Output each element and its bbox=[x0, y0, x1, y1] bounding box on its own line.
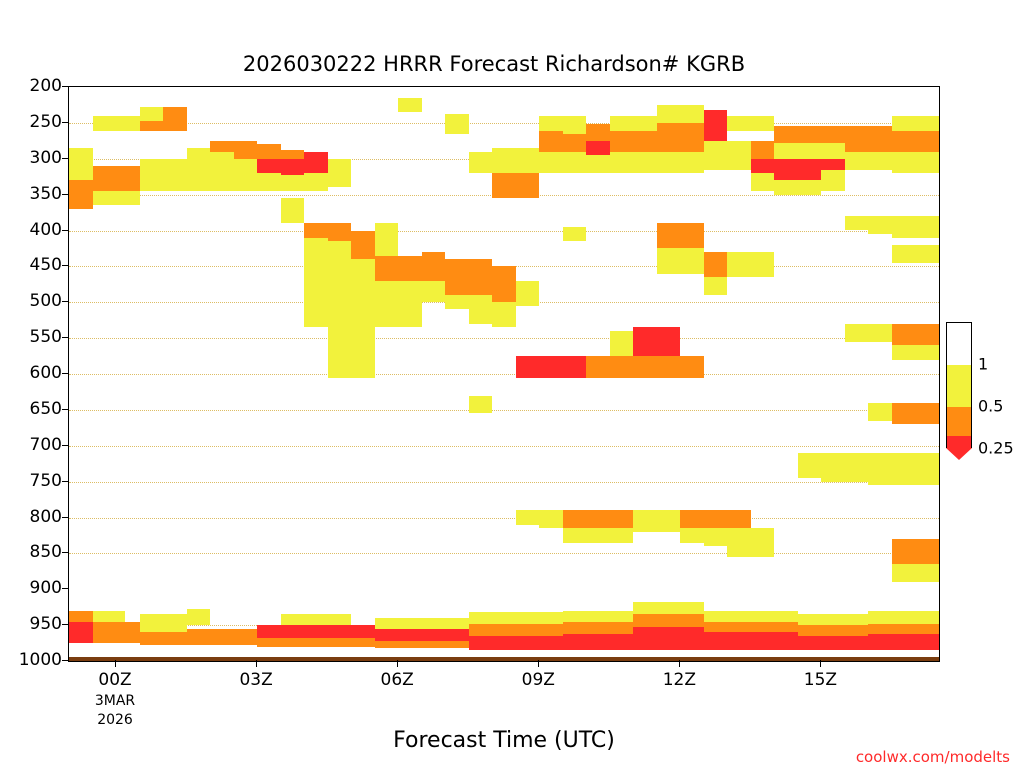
heatmap-cell bbox=[868, 634, 939, 651]
heatmap-cell bbox=[375, 641, 469, 648]
heatmap-cell bbox=[328, 159, 352, 188]
heatmap-cell bbox=[892, 116, 939, 132]
heatmap-cell bbox=[328, 288, 352, 378]
y-axis-tick-mark bbox=[62, 517, 69, 518]
heatmap-cell bbox=[281, 175, 305, 192]
heatmap-cell bbox=[398, 256, 422, 281]
x-axis-tick-label: 12Z bbox=[663, 670, 696, 690]
y-axis-tick-label: 550 bbox=[0, 327, 68, 347]
heatmap-cell bbox=[798, 625, 869, 636]
heatmap-cell bbox=[539, 356, 563, 378]
heatmap-plot-area bbox=[68, 86, 940, 662]
heatmap-cell bbox=[610, 116, 634, 132]
heatmap-cell bbox=[69, 611, 93, 622]
heatmap-cell bbox=[798, 180, 822, 194]
heatmap-cell bbox=[821, 170, 845, 192]
heatmap-cell bbox=[187, 609, 211, 625]
heatmap-cell bbox=[798, 614, 869, 625]
heatmap-cell bbox=[187, 148, 211, 191]
colorbar-tick-label: 1 bbox=[978, 355, 988, 374]
heatmap-cell bbox=[492, 173, 516, 198]
heatmap-cell bbox=[633, 356, 657, 378]
colorbar-segment bbox=[947, 365, 971, 407]
x-axis-tick-label: 09Z bbox=[522, 670, 555, 690]
heatmap-cell bbox=[281, 614, 352, 625]
heatmap-cell bbox=[563, 528, 587, 542]
heatmap-cell bbox=[680, 356, 704, 378]
heatmap-cell bbox=[727, 141, 751, 170]
heatmap-cell bbox=[492, 148, 516, 173]
heatmap-cell bbox=[798, 143, 822, 159]
y-axis-tick-label: 250 bbox=[0, 112, 68, 132]
heatmap-cell bbox=[774, 143, 798, 159]
heatmap-cell bbox=[727, 116, 751, 132]
heatmap-cell bbox=[586, 528, 610, 542]
heatmap-cell bbox=[845, 152, 869, 170]
heatmap-cell bbox=[539, 510, 563, 528]
heatmap-cell bbox=[892, 216, 939, 238]
heatmap-cell bbox=[798, 453, 822, 478]
heatmap-cell bbox=[868, 152, 892, 170]
heatmap-cell bbox=[281, 198, 305, 223]
heatmap-cell bbox=[469, 636, 563, 650]
heatmap-cell bbox=[868, 324, 892, 342]
grid-line bbox=[69, 661, 939, 662]
heatmap-cell bbox=[657, 105, 681, 123]
heatmap-cell bbox=[469, 396, 493, 414]
heatmap-cell bbox=[751, 159, 775, 173]
colorbar-segment-red bbox=[946, 436, 972, 448]
colorbar-top-arrow bbox=[946, 310, 972, 322]
heatmap-cell bbox=[892, 324, 939, 346]
heatmap-cell bbox=[563, 622, 634, 634]
y-axis-tick-label: 300 bbox=[0, 148, 68, 168]
heatmap-cell bbox=[704, 252, 728, 277]
y-axis-tick-mark bbox=[62, 158, 69, 159]
heatmap-cell bbox=[375, 281, 399, 328]
heatmap-cell bbox=[516, 148, 540, 173]
heatmap-cell bbox=[892, 131, 939, 151]
x-axis-tick-label: 00Z bbox=[98, 670, 131, 690]
heatmap-cell bbox=[140, 121, 164, 131]
y-axis-tick-label: 200 bbox=[0, 76, 68, 96]
heatmap-cell bbox=[140, 107, 164, 121]
heatmap-cell bbox=[586, 141, 610, 155]
grid-line bbox=[69, 338, 939, 339]
heatmap-cell bbox=[704, 611, 798, 622]
heatmap-cell bbox=[257, 144, 281, 158]
y-axis-tick-label: 850 bbox=[0, 542, 68, 562]
heatmap-cell bbox=[445, 114, 469, 133]
heatmap-cell bbox=[657, 123, 681, 152]
heatmap-cell bbox=[610, 331, 634, 356]
y-axis-tick-mark bbox=[62, 373, 69, 374]
heatmap-cell bbox=[680, 123, 704, 152]
colorbar-segment bbox=[947, 323, 971, 365]
heatmap-cell bbox=[93, 622, 140, 644]
grid-line bbox=[69, 518, 939, 519]
heatmap-cell bbox=[868, 624, 939, 634]
heatmap-cell bbox=[868, 403, 892, 421]
x-axis-tick-mark bbox=[397, 660, 398, 667]
heatmap-cell bbox=[469, 295, 493, 324]
colorbar-body bbox=[946, 322, 972, 448]
heatmap-cell bbox=[257, 173, 281, 191]
heatmap-cell bbox=[563, 227, 587, 241]
grid-line bbox=[69, 553, 939, 554]
heatmap-cell bbox=[398, 281, 422, 328]
heatmap-cell bbox=[751, 528, 775, 557]
heatmap-cell bbox=[633, 614, 704, 626]
heatmap-cell bbox=[445, 259, 469, 295]
heatmap-cell bbox=[210, 152, 234, 191]
grid-line bbox=[69, 123, 939, 124]
heatmap-cell bbox=[304, 173, 328, 191]
x-axis-tick-mark bbox=[538, 660, 539, 667]
heatmap-cell bbox=[563, 510, 587, 528]
heatmap-cell bbox=[69, 589, 939, 611]
heatmap-cell bbox=[304, 238, 328, 252]
y-axis-tick-mark bbox=[62, 660, 69, 661]
heatmap-cell bbox=[516, 510, 540, 524]
y-axis-tick-label: 400 bbox=[0, 220, 68, 240]
heatmap-cell bbox=[234, 159, 258, 191]
heatmap-cell bbox=[892, 152, 939, 174]
heatmap-cell bbox=[821, 143, 845, 159]
heatmap-cell bbox=[116, 166, 140, 191]
heatmap-cell bbox=[798, 159, 822, 181]
heatmap-cell bbox=[633, 510, 657, 532]
heatmap-cell bbox=[516, 173, 540, 198]
y-axis-tick-mark bbox=[62, 445, 69, 446]
heatmap-cell bbox=[304, 223, 328, 237]
heatmap-cell bbox=[93, 191, 117, 205]
ground-band bbox=[69, 657, 939, 661]
heatmap-cell bbox=[751, 252, 775, 277]
heatmap-cell bbox=[633, 627, 704, 651]
heatmap-cell bbox=[892, 245, 939, 263]
heatmap-cell bbox=[633, 327, 657, 356]
heatmap-cell bbox=[257, 625, 375, 638]
x-axis-tick-mark bbox=[115, 660, 116, 667]
y-axis-tick-label: 650 bbox=[0, 399, 68, 419]
heatmap-cell bbox=[563, 356, 587, 378]
heatmap-cell bbox=[821, 453, 845, 482]
heatmap-cell bbox=[727, 252, 751, 277]
y-axis-tick-label: 1000 bbox=[0, 650, 68, 670]
heatmap-cell bbox=[210, 141, 234, 152]
heatmap-cell bbox=[727, 528, 751, 557]
grid-line bbox=[69, 410, 939, 411]
y-axis-tick-mark bbox=[62, 301, 69, 302]
heatmap-cell bbox=[727, 510, 751, 528]
heatmap-cell bbox=[657, 356, 681, 378]
y-axis-tick-mark bbox=[62, 409, 69, 410]
heatmap-cell bbox=[469, 152, 493, 174]
heatmap-cell bbox=[751, 116, 775, 132]
heatmap-cell bbox=[69, 622, 93, 644]
heatmap-cell bbox=[304, 252, 328, 327]
heatmap-cell bbox=[680, 248, 704, 273]
heatmap-cell bbox=[69, 148, 93, 180]
heatmap-cell bbox=[69, 180, 93, 209]
heatmap-cell bbox=[774, 159, 798, 181]
heatmap-cell bbox=[116, 191, 140, 205]
y-axis-tick-mark bbox=[62, 337, 69, 338]
heatmap-cell bbox=[680, 152, 704, 174]
heatmap-cell bbox=[257, 159, 281, 173]
x-axis-sub-label: 2026 bbox=[97, 712, 133, 729]
heatmap-cell bbox=[563, 152, 587, 174]
heatmap-cell bbox=[328, 223, 352, 241]
heatmap-cell bbox=[610, 510, 634, 528]
heatmap-cell bbox=[892, 453, 939, 485]
heatmap-cell bbox=[774, 126, 798, 143]
heatmap-cell bbox=[680, 105, 704, 123]
heatmap-cell bbox=[892, 345, 939, 359]
chart-title-text: 2026030222 HRRR Forecast Richardson# KGR… bbox=[243, 52, 745, 76]
heatmap-cell bbox=[516, 356, 540, 378]
heatmap-cell bbox=[304, 152, 328, 174]
y-axis-tick-label: 700 bbox=[0, 435, 68, 455]
colorbar-tick-label: 0.5 bbox=[978, 397, 1003, 416]
page-title: 2026030222 HRRR Forecast Richardson# KGR… bbox=[0, 52, 1024, 76]
heatmap-cell bbox=[563, 134, 587, 152]
heatmap-cell bbox=[469, 624, 563, 636]
heatmap-cell bbox=[539, 152, 563, 174]
heatmap-cell bbox=[868, 453, 892, 485]
heatmap-cell bbox=[751, 141, 775, 159]
grid-line bbox=[69, 374, 939, 375]
heatmap-cell bbox=[633, 116, 657, 132]
heatmap-cell bbox=[563, 634, 634, 651]
heatmap-cell bbox=[140, 159, 164, 191]
grid-line bbox=[69, 231, 939, 232]
heatmap-cell bbox=[892, 539, 939, 564]
heatmap-cell bbox=[563, 611, 634, 622]
heatmap-cell bbox=[257, 638, 375, 647]
heatmap-cell bbox=[704, 141, 728, 170]
watermark: coolwx.com/modelts bbox=[856, 748, 1010, 766]
y-axis-tick-mark bbox=[62, 624, 69, 625]
heatmap-cell bbox=[116, 116, 140, 132]
x-axis-tick-mark bbox=[679, 660, 680, 667]
heatmap-cell bbox=[657, 152, 681, 174]
heatmap-cell bbox=[422, 281, 446, 303]
heatmap-cell bbox=[586, 124, 610, 141]
y-axis-tick-mark bbox=[62, 122, 69, 123]
y-axis-tick-label: 750 bbox=[0, 471, 68, 491]
heatmap-cell bbox=[704, 277, 728, 295]
grid-line bbox=[69, 482, 939, 483]
y-axis-tick-mark bbox=[62, 265, 69, 266]
heatmap-cell bbox=[821, 159, 845, 170]
heatmap-cell bbox=[657, 223, 681, 248]
heatmap-cell bbox=[704, 510, 728, 528]
y-axis-tick-mark bbox=[62, 588, 69, 589]
heatmap-cell bbox=[892, 564, 939, 582]
heatmap-cell bbox=[351, 231, 375, 260]
heatmap-cell bbox=[704, 123, 728, 141]
heatmap-cell bbox=[187, 629, 258, 646]
y-axis-tick-label: 350 bbox=[0, 184, 68, 204]
y-axis-tick-label: 450 bbox=[0, 255, 68, 275]
y-axis-tick-label: 600 bbox=[0, 363, 68, 383]
heatmap-cell bbox=[375, 629, 469, 641]
heatmap-cell bbox=[445, 295, 469, 309]
x-axis-tick-mark bbox=[820, 660, 821, 667]
heatmap-cell bbox=[633, 602, 704, 614]
heatmap-cell bbox=[798, 126, 822, 143]
heatmap-cell bbox=[610, 356, 634, 378]
heatmap-cell bbox=[375, 256, 399, 281]
heatmap-cell bbox=[868, 611, 939, 624]
heatmap-cell bbox=[845, 216, 869, 230]
grid-line bbox=[69, 446, 939, 447]
y-axis-tick-mark bbox=[62, 194, 69, 195]
heatmap-cell bbox=[140, 632, 187, 645]
y-axis-tick-mark bbox=[62, 230, 69, 231]
heatmap-cell bbox=[163, 107, 187, 131]
colorbar-bottom-arrow bbox=[946, 448, 972, 460]
heatmap-cell bbox=[704, 528, 728, 546]
heatmap-cell bbox=[93, 166, 117, 191]
heatmap-cell bbox=[469, 259, 493, 295]
heatmap-cell bbox=[680, 223, 704, 248]
chart-page: 2026030222 HRRR Forecast Richardson# KGR… bbox=[0, 0, 1024, 768]
x-axis-tick-label: 15Z bbox=[804, 670, 837, 690]
heatmap-cell bbox=[586, 155, 610, 173]
heatmap-cell bbox=[539, 116, 563, 132]
heatmap-cell bbox=[633, 131, 657, 151]
heatmap-cell bbox=[657, 248, 681, 273]
x-axis-tick-label: 06Z bbox=[381, 670, 414, 690]
y-axis-tick-mark bbox=[62, 86, 69, 87]
heatmap-cell bbox=[610, 528, 634, 542]
heatmap-cell bbox=[586, 510, 610, 528]
heatmap-cell bbox=[563, 116, 587, 134]
heatmap-cell bbox=[704, 110, 728, 123]
colorbar-tick-label: 0.25 bbox=[978, 439, 1014, 458]
heatmap-cell bbox=[845, 324, 869, 342]
heatmap-cell bbox=[281, 150, 305, 159]
heatmap-cell bbox=[351, 259, 375, 377]
y-axis-tick-label: 500 bbox=[0, 291, 68, 311]
heatmap-cell bbox=[93, 116, 117, 132]
heatmap-cell bbox=[633, 152, 657, 174]
heatmap-cell bbox=[610, 152, 634, 174]
heatmap-cell bbox=[868, 126, 892, 151]
heatmap-cell bbox=[657, 510, 681, 532]
y-axis-tick-label: 950 bbox=[0, 614, 68, 634]
heatmap-cell bbox=[375, 618, 469, 629]
heatmap-cell bbox=[868, 216, 892, 234]
heatmap-cell bbox=[398, 98, 422, 112]
heatmap-cell bbox=[821, 126, 845, 143]
heatmap-cell bbox=[704, 632, 798, 650]
x-axis-tick-label: 03Z bbox=[239, 670, 272, 690]
heatmap-cell bbox=[610, 131, 634, 151]
heatmap-cell bbox=[657, 327, 681, 356]
heatmap-cell bbox=[680, 528, 704, 542]
heatmap-cell bbox=[140, 614, 187, 632]
heatmap-cell bbox=[751, 173, 775, 191]
x-axis-title-text: Forecast Time (UTC) bbox=[393, 728, 615, 753]
heatmap-cell bbox=[539, 131, 563, 151]
heatmap-cell bbox=[281, 159, 305, 175]
heatmap-cell bbox=[516, 281, 540, 306]
y-axis-tick-label: 900 bbox=[0, 578, 68, 598]
y-axis-tick-label: 800 bbox=[0, 507, 68, 527]
heatmap-cell bbox=[798, 636, 869, 650]
heatmap-cell bbox=[774, 180, 798, 194]
heatmap-cell bbox=[234, 141, 258, 159]
x-axis-tick-mark bbox=[256, 660, 257, 667]
heatmap-cell bbox=[892, 403, 939, 425]
heatmap-cell bbox=[680, 510, 704, 528]
heatmap-cell bbox=[704, 622, 798, 633]
heatmap-cell bbox=[469, 612, 563, 623]
heatmap-cell bbox=[492, 302, 516, 327]
heatmap-cell bbox=[328, 241, 352, 288]
x-axis-sub-label: 3MAR bbox=[95, 693, 135, 710]
y-axis-tick-mark bbox=[62, 481, 69, 482]
y-axis-tick-mark bbox=[62, 552, 69, 553]
heatmap-cell bbox=[586, 356, 610, 378]
heatmap-cell bbox=[422, 252, 446, 281]
heatmap-cell bbox=[492, 266, 516, 302]
colorbar: 10.50.25 bbox=[946, 310, 972, 460]
heatmap-cell bbox=[845, 126, 869, 151]
heatmap-cell bbox=[845, 453, 869, 482]
heatmap-cell bbox=[163, 159, 187, 191]
heatmap-cell bbox=[375, 223, 399, 255]
